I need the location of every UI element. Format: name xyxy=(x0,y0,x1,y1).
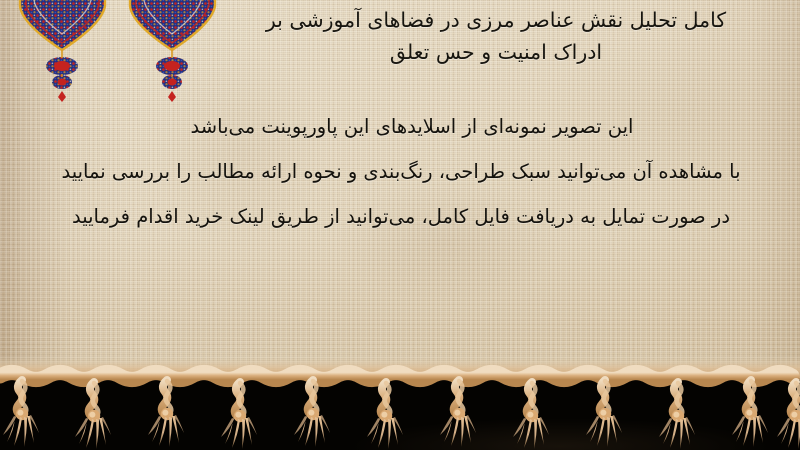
body-line-1: این تصویر نمونه‌ای از اسلایدهای این پاور… xyxy=(20,104,782,149)
slide-title-line-1: کامل تحلیل نقش عناصر مرزی در فضاهای آموز… xyxy=(216,4,776,36)
body-line-2: با مشاهده آن می‌توانید سبک طراحی، رنگ‌بن… xyxy=(20,149,782,194)
fringe-black-band xyxy=(0,378,800,450)
slide-canvas: کامل تحلیل نقش عناصر مرزی در فضاهای آموز… xyxy=(0,0,800,450)
body-line-3: در صورت تمایل به دریافت فایل کامل، می‌تو… xyxy=(20,194,782,239)
slide-body: این تصویر نمونه‌ای از اسلایدهای این پاور… xyxy=(20,104,782,239)
slide-title: کامل تحلیل نقش عناصر مرزی در فضاهای آموز… xyxy=(216,4,776,68)
slide-title-line-2: ادراک امنیت و حس تعلق xyxy=(216,36,776,68)
